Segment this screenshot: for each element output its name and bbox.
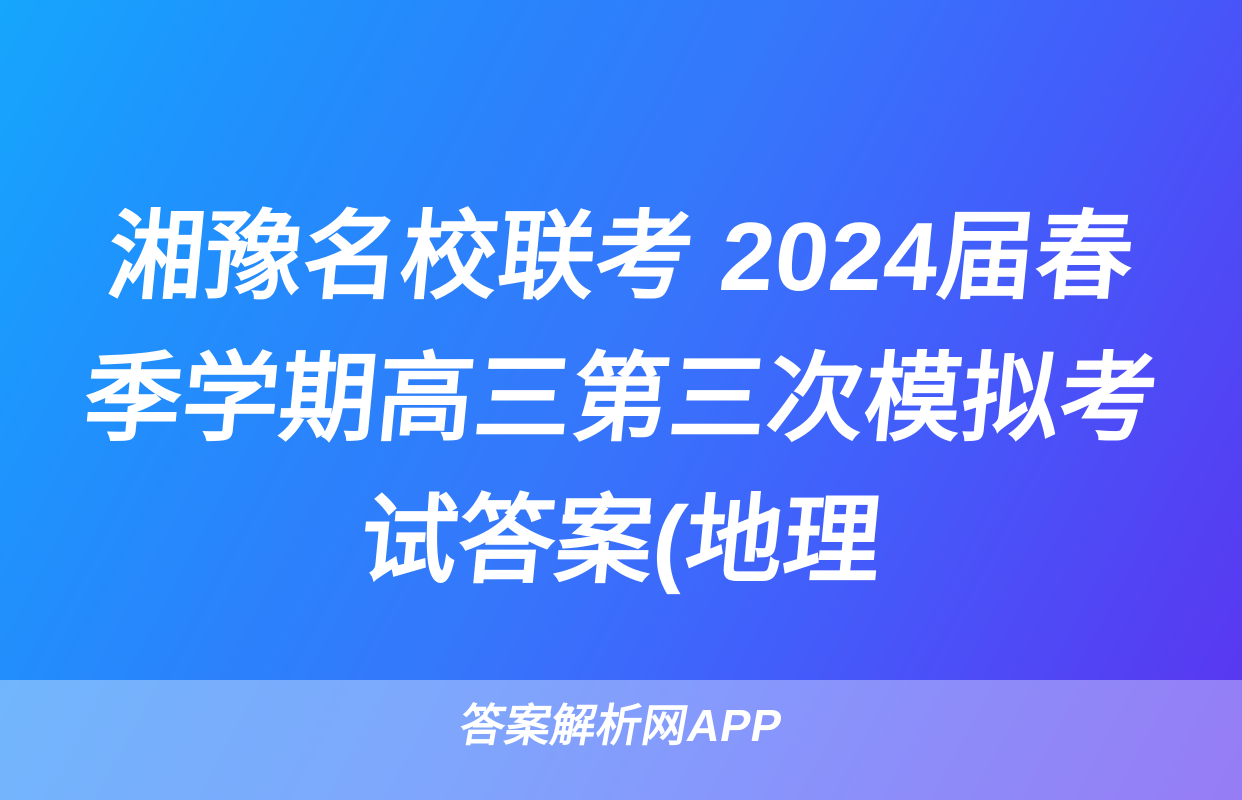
footer-band: 答案解析网APP xyxy=(0,680,1242,800)
title-line-1: 湘豫名校联考 2024届春 xyxy=(19,186,1223,328)
title-line-2: 季学期高三第三次模拟考 xyxy=(19,328,1223,470)
watermark-text: 答案解析网APP xyxy=(0,698,1242,754)
title-block: 湘豫名校联考 2024届春 季学期高三第三次模拟考 试答案(地理 xyxy=(0,186,1242,612)
poster-canvas: 湘豫名校联考 2024届春 季学期高三第三次模拟考 试答案(地理 答案解析网AP… xyxy=(0,0,1242,800)
title-line-3: 试答案(地理 xyxy=(19,470,1223,612)
